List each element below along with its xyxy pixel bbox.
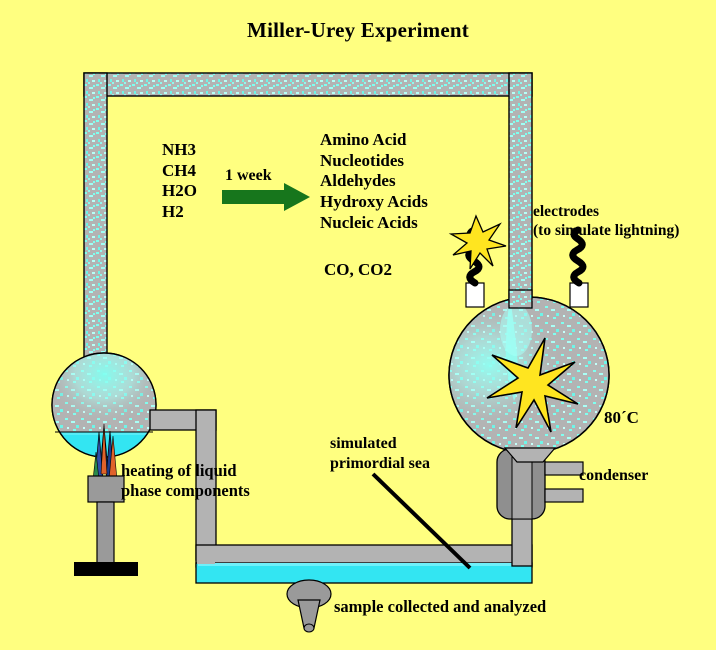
reaction-arrow-label: 1 week	[225, 166, 272, 186]
electrodes-label: electrodes (to simulate lightning)	[533, 203, 679, 241]
simulated-sea-label: simulated primordial sea	[330, 434, 430, 473]
heating-label: heating of liquid phase components	[121, 461, 250, 501]
sample-label: sample collected and analyzed	[334, 597, 546, 617]
reaction-arrow	[222, 183, 310, 211]
page-title: Miller-Urey Experiment	[0, 18, 716, 44]
temperature-label: 80´C	[604, 408, 639, 429]
gas-circuit-tubing	[84, 73, 532, 365]
electrode-right	[570, 230, 588, 307]
apparatus-graphics	[0, 0, 716, 650]
gas-byproducts-label: CO, CO2	[324, 260, 392, 281]
input-gases-label: NH3 CH4 H2O H2	[162, 140, 197, 223]
miller-urey-diagram: Miller-Urey Experiment NH3 CH4 H2O H2 1 …	[0, 0, 716, 650]
sample-stopcock[interactable]	[287, 580, 331, 632]
condenser-label: condenser	[579, 466, 648, 486]
organic-products-label: Amino Acid Nucleotides Aldehydes Hydroxy…	[320, 130, 428, 234]
